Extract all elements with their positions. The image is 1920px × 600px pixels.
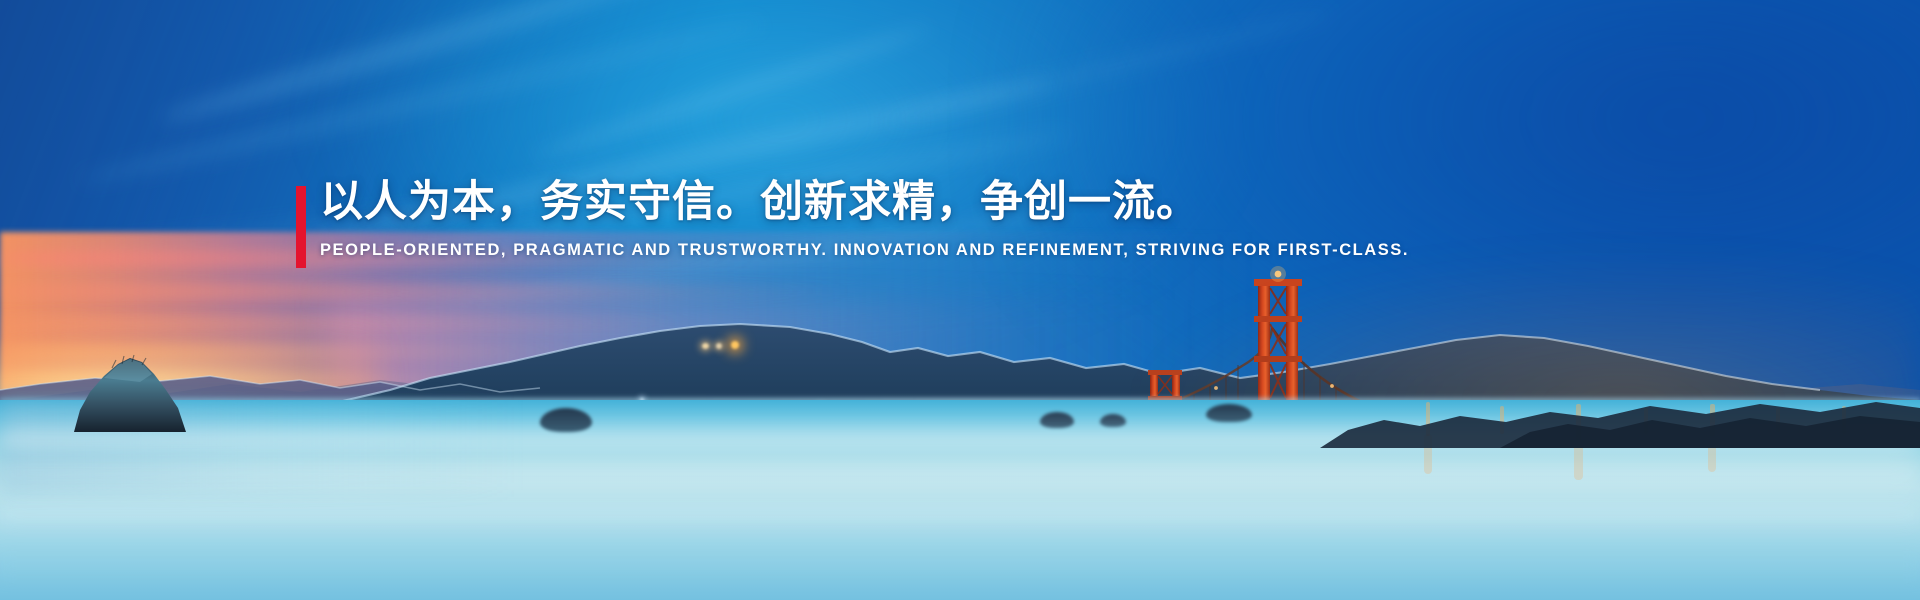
sunset-band bbox=[0, 284, 860, 299]
hero-banner: 以人为本，务实守信。创新求精，争创一流。 PEOPLE-ORIENTED, PR… bbox=[0, 0, 1920, 600]
banner-text-block: 以人为本，务实守信。创新求精，争创一流。 PEOPLE-ORIENTED, PR… bbox=[296, 152, 1696, 216]
banner-subheadline: PEOPLE-ORIENTED, PRAGMATIC AND TRUSTWORT… bbox=[296, 241, 1696, 260]
ridge-light bbox=[731, 341, 739, 349]
water-band bbox=[0, 506, 1920, 524]
water-band bbox=[0, 556, 1920, 576]
foreground-rock bbox=[1100, 414, 1126, 427]
right-shore-rocks bbox=[1320, 358, 1920, 448]
banner-headline: 以人为本，务实守信。创新求精，争创一流。 bbox=[296, 180, 1696, 225]
foreground-rock bbox=[1206, 404, 1252, 422]
ridge-light bbox=[716, 343, 722, 349]
foreground-rock bbox=[1040, 412, 1074, 428]
foreground-rock bbox=[540, 408, 592, 432]
ridge-light bbox=[702, 343, 709, 349]
sea-stack-rock bbox=[60, 352, 200, 432]
